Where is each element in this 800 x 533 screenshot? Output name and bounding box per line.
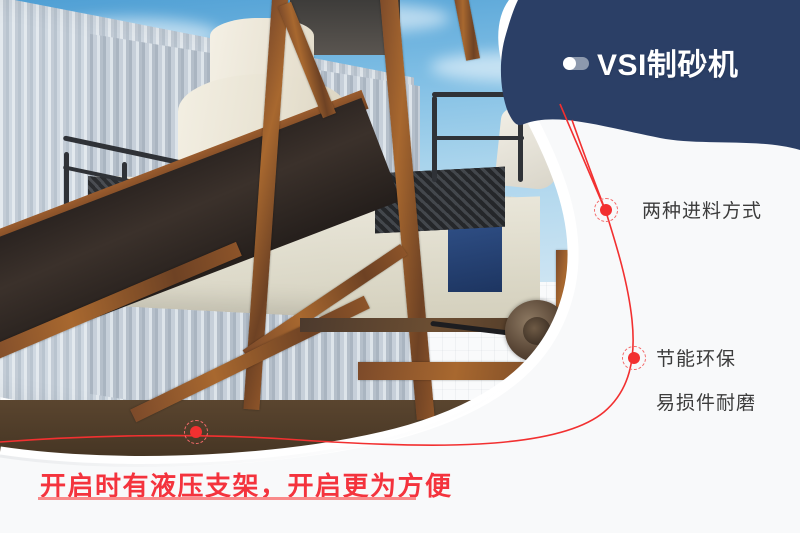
feature-label-wear: 易损件耐磨 (656, 388, 756, 415)
page-title: VSI制砂机 (597, 40, 738, 84)
ground (0, 400, 640, 470)
poster-canvas: 7 (0, 0, 800, 533)
vegetation (562, 322, 626, 376)
header-navy-banner (0, 0, 800, 200)
drive-motor (505, 300, 569, 362)
feature-label-feeding: 两种进料方式 (642, 196, 762, 223)
marker-dot-feeding[interactable] (600, 204, 612, 216)
feature-label-energy: 节能环保 (656, 344, 736, 371)
bullet-pill-icon (563, 57, 589, 70)
caption-underline (38, 497, 416, 500)
marker-dot-caption[interactable] (190, 426, 202, 438)
blue-equipment-box (448, 222, 502, 292)
marker-dot-energy[interactable] (628, 352, 640, 364)
